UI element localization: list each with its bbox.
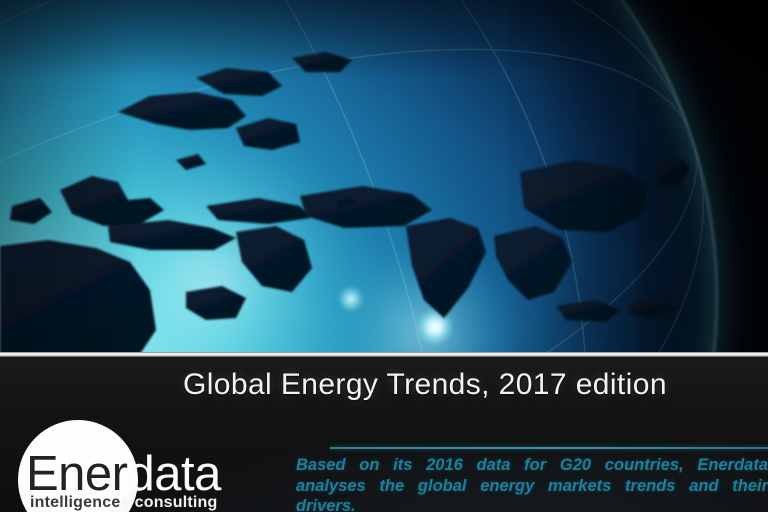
subtitle-rule [330, 447, 768, 449]
logo-word-data: data [128, 447, 221, 501]
poster-root: Global Energy Trends, 2017 edition Enerd… [0, 0, 768, 512]
logo-tagline-intelligence: intelligence [30, 494, 120, 511]
page-title: Global Energy Trends, 2017 edition [183, 366, 768, 404]
subtitle-copy: Based on its 2016 data for G20 countries… [296, 456, 768, 512]
logo-wordmark: Enerdata [26, 448, 221, 500]
continent-silhouettes [0, 0, 768, 354]
logo-tagline: intelligence+ consulting [30, 494, 218, 512]
logo-word-ener: Ener [26, 447, 128, 501]
subtitle-text: Based on its 2016 data for G20 countries… [296, 455, 768, 512]
logo-tagline-consulting: + consulting [120, 494, 217, 511]
enerdata-logo[interactable]: Enerdata intelligence+ consulting [12, 414, 270, 512]
globe-hero-image [0, 0, 768, 354]
